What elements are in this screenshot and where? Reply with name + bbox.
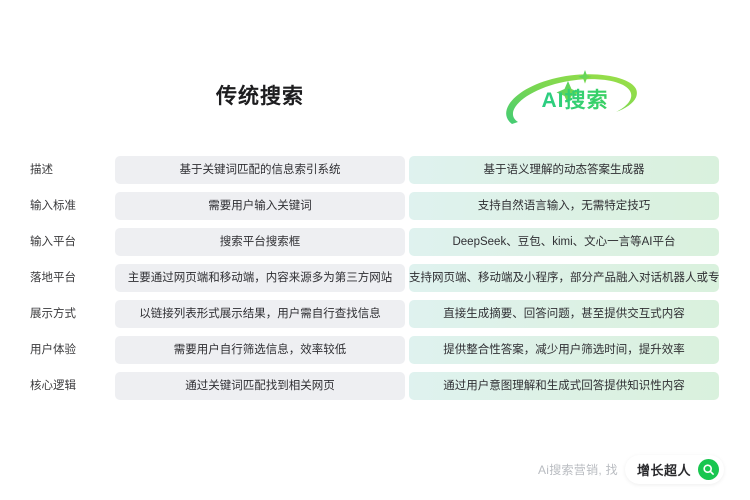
row-label: 核心逻辑 [30,372,106,400]
traditional-cell: 基于关键词匹配的信息索引系统 [115,156,405,184]
footer-content: Ai搜索营销, 找 增长超人 [538,452,724,486]
row-label: 展示方式 [30,300,106,328]
comparison-infographic: 传统搜索 [0,0,750,500]
column-headers: 传统搜索 [0,62,750,132]
ai-cell: 通过用户意图理解和生成式回答提供知识性内容 [409,372,719,400]
table-row: 核心逻辑 通过关键词匹配找到相关网页 通过用户意图理解和生成式回答提供知识性内容 [0,372,750,400]
table-row: 落地平台 主要通过网页端和移动端，内容来源多为第三方网站 支持网页端、移动端及小… [0,264,750,292]
table-row: 用户体验 需要用户自行筛选信息，效率较低 提供整合性答案，减少用户筛选时间，提升… [0,336,750,364]
traditional-cell: 需要用户自行筛选信息，效率较低 [115,336,405,364]
traditional-cell: 以链接列表形式展示结果，用户需自行查找信息 [115,300,405,328]
ai-cell: 支持网页端、移动端及小程序，部分产品融入对话机器人或专业工具 [409,264,719,292]
table-row: 输入标准 需要用户输入关键词 支持自然语言输入，无需特定技巧 [0,192,750,220]
search-icon[interactable] [698,459,719,480]
ai-search-title-group: AI搜索 [490,62,660,132]
ai-search-title: AI搜索 [490,84,660,114]
traditional-cell: 主要通过网页端和移动端，内容来源多为第三方网站 [115,264,405,292]
traditional-search-title: 传统搜索 [115,80,405,110]
row-label: 描述 [30,156,106,184]
row-label: 用户体验 [30,336,106,364]
row-label: 输入平台 [30,228,106,256]
traditional-cell: 搜索平台搜索框 [115,228,405,256]
ai-cell: DeepSeek、豆包、kimi、文心一言等AI平台 [409,228,719,256]
row-label: 落地平台 [30,264,106,292]
footer-tagline: Ai搜索营销, 找 [538,461,618,478]
ai-cell: 支持自然语言输入，无需特定技巧 [409,192,719,220]
traditional-cell: 通过关键词匹配找到相关网页 [115,372,405,400]
brand-pill[interactable]: 增长超人 [625,455,724,484]
table-row: 描述 基于关键词匹配的信息索引系统 基于语义理解的动态答案生成器 [0,156,750,184]
row-label: 输入标准 [30,192,106,220]
table-row: 展示方式 以链接列表形式展示结果，用户需自行查找信息 直接生成摘要、回答问题，甚… [0,300,750,328]
ai-cell: 提供整合性答案，减少用户筛选时间，提升效率 [409,336,719,364]
ai-cell: 直接生成摘要、回答问题，甚至提供交互式内容 [409,300,719,328]
footer-watermark: Ai搜索营销, 找 增长超人 [0,452,750,486]
comparison-table: 描述 基于关键词匹配的信息索引系统 基于语义理解的动态答案生成器 输入标准 需要… [0,156,750,408]
brand-name: 增长超人 [637,460,691,479]
ai-cell: 基于语义理解的动态答案生成器 [409,156,719,184]
traditional-cell: 需要用户输入关键词 [115,192,405,220]
table-row: 输入平台 搜索平台搜索框 DeepSeek、豆包、kimi、文心一言等AI平台 [0,228,750,256]
